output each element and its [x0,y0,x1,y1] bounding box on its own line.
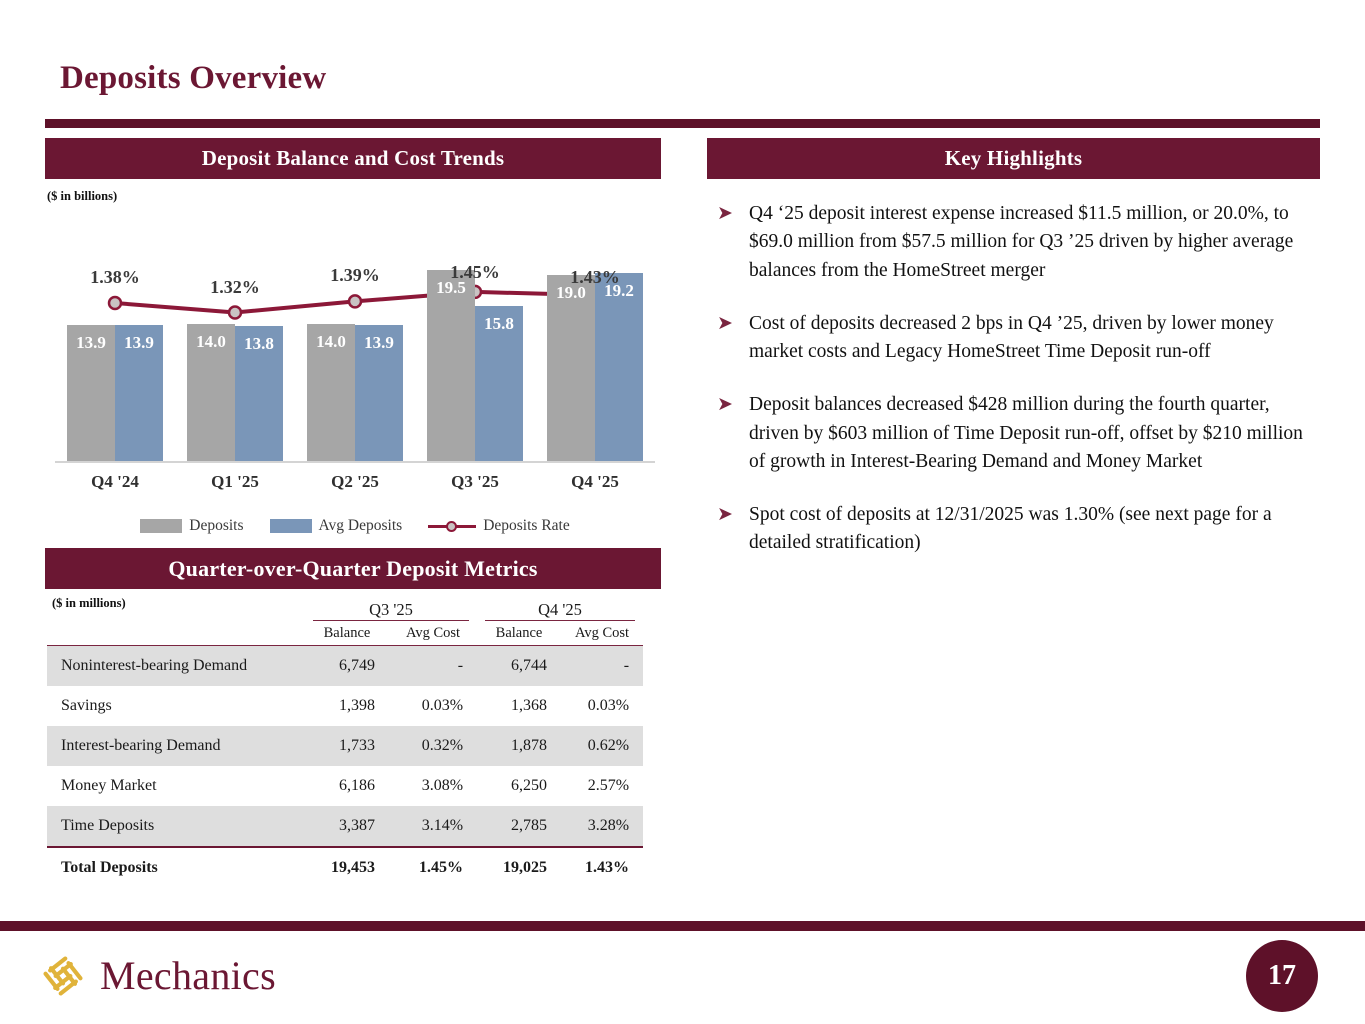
cell-q3-avg-cost: 3.14% [389,806,477,847]
bar-label-avg-deposits-1: 13.8 [235,334,283,354]
table-total-row: Total Deposits19,4531.45%19,0251.43% [47,847,643,888]
deposits-rate-label-0: 1.38% [65,267,165,288]
deposits-rate-label-4: 1.43% [545,267,645,288]
total-q3-avg-cost: 1.45% [389,847,477,888]
table-group-header-row: Q3 '25 Q4 '25 [47,600,643,620]
arrow-bullet-icon: ➤ [707,310,749,367]
deposit-metrics-table-wrap: Q3 '25 Q4 '25 Balance Avg Cost Balance A… [47,600,661,888]
bar-label-deposits-0: 13.9 [67,333,115,353]
col-header-q3-avg-cost: Avg Cost [389,625,477,642]
bar-avg-deposits-2: 13.9 [355,325,403,461]
cell-q4-avg-cost: - [561,646,643,687]
bar-label-avg-deposits-3: 15.8 [475,314,523,334]
cell-q3-avg-cost: 3.08% [389,766,477,806]
page-number-badge: 17 [1246,940,1318,1012]
bar-label-avg-deposits-0: 13.9 [115,333,163,353]
table-row: Time Deposits3,3873.14%2,7853.28% [47,806,643,847]
key-highlight-text: Deposit balances decreased $428 million … [749,391,1327,476]
bar-deposits-1: 14.0 [187,324,235,461]
x-axis-label-3: Q3 '25 [415,472,535,492]
cell-q4-avg-cost: 3.28% [561,806,643,847]
cell-q3-avg-cost: 0.03% [389,686,477,726]
total-q4-balance: 19,025 [477,847,561,888]
total-q3-balance: 19,453 [305,847,389,888]
deposits-rate-label-3: 1.45% [425,262,525,283]
key-highlights-header: Key Highlights [707,138,1320,179]
total-q4-avg-cost: 1.43% [561,847,643,888]
cell-q3-balance: 1,733 [305,726,389,766]
bar-deposits-2: 14.0 [307,324,355,461]
arrow-bullet-icon: ➤ [707,200,749,285]
slide-root: Deposits Overview Deposit Balance and Co… [0,0,1365,1024]
title-divider [45,119,1320,128]
table-corner-cell [47,600,305,620]
key-highlight-item: ➤Q4 ‘25 deposit interest expense increas… [707,200,1327,285]
bar-label-avg-deposits-2: 13.9 [355,333,403,353]
key-highlight-text: Q4 ‘25 deposit interest expense increase… [749,200,1327,285]
metrics-panel-header: Quarter-over-Quarter Deposit Metrics [45,548,661,589]
row-label: Interest-bearing Demand [47,726,305,766]
deposits-rate-label-2: 1.39% [305,265,405,286]
group-rule-q4 [485,620,635,621]
footer-divider [0,921,1365,931]
legend-label-avg-deposits: Avg Deposits [319,517,403,535]
legend-label-deposits-rate: Deposits Rate [483,517,570,535]
key-highlight-text: Cost of deposits decreased 2 bps in Q4 ’… [749,310,1327,367]
deposits-rate-marker-2 [349,295,361,307]
x-axis-label-1: Q1 '25 [175,472,295,492]
cell-q3-avg-cost: 0.32% [389,726,477,766]
bar-deposits-3: 19.5 [427,270,475,461]
legend-item-avg-deposits: Avg Deposits [270,517,403,535]
deposit-balance-cost-chart: 13.913.914.013.814.013.919.515.819.019.2… [45,200,665,500]
group-rule-q3 [313,620,469,621]
legend-swatch-deposits [140,519,182,533]
x-axis-label-0: Q4 '24 [55,472,175,492]
col-header-q3-balance: Balance [305,625,389,642]
row-label: Time Deposits [47,806,305,847]
cell-q3-balance: 1,398 [305,686,389,726]
bar-label-deposits-1: 14.0 [187,332,235,352]
cell-q4-balance: 1,368 [477,686,561,726]
key-highlight-item: ➤Spot cost of deposits at 12/31/2025 was… [707,501,1327,558]
arrow-bullet-icon: ➤ [707,391,749,476]
cell-q4-avg-cost: 2.57% [561,766,643,806]
col-header-q4-avg-cost: Avg Cost [561,625,643,642]
cell-q3-balance: 6,749 [305,646,389,687]
cell-q4-avg-cost: 0.62% [561,726,643,766]
table-body: Noninterest-bearing Demand6,749-6,744-Sa… [47,646,643,889]
cell-q3-balance: 3,387 [305,806,389,847]
cell-q4-balance: 1,878 [477,726,561,766]
legend-marker-deposits-rate [428,519,476,533]
x-axis-label-2: Q2 '25 [295,472,415,492]
deposits-rate-marker-0 [109,297,121,309]
brand-wordmark: Mechanics [100,952,276,999]
chart-legend: Deposits Avg Deposits Deposits Rate [45,513,665,539]
legend-swatch-avg-deposits [270,519,312,533]
brand-logo: Mechanics [40,952,276,999]
legend-item-deposits-rate: Deposits Rate [428,517,570,535]
table-sub-header-row: Balance Avg Cost Balance Avg Cost [47,625,643,642]
col-header-q4-balance: Balance [477,625,561,642]
bar-avg-deposits-0: 13.9 [115,325,163,461]
bar-deposits-4: 19.0 [547,275,595,461]
total-label: Total Deposits [47,847,305,888]
cell-q4-balance: 6,250 [477,766,561,806]
table-row: Money Market6,1863.08%6,2502.57% [47,766,643,806]
legend-item-deposits: Deposits [140,517,243,535]
group-header-q3: Q3 '25 [305,600,477,620]
key-highlight-item: ➤Deposit balances decreased $428 million… [707,391,1327,476]
legend-label-deposits: Deposits [189,517,243,535]
row-label: Money Market [47,766,305,806]
table-row: Interest-bearing Demand1,7330.32%1,8780.… [47,726,643,766]
chart-x-axis-labels: Q4 '24Q1 '25Q2 '25Q3 '25Q4 '25 [45,472,665,502]
table-row: Savings1,3980.03%1,3680.03% [47,686,643,726]
bar-avg-deposits-4: 19.2 [595,273,643,461]
table-row: Noninterest-bearing Demand6,749-6,744- [47,646,643,687]
key-highlights-list: ➤Q4 ‘25 deposit interest expense increas… [707,200,1327,583]
deposits-rate-marker-1 [229,307,241,319]
cell-q3-balance: 6,186 [305,766,389,806]
cell-q3-avg-cost: - [389,646,477,687]
x-axis-label-4: Q4 '25 [535,472,655,492]
arrow-bullet-icon: ➤ [707,501,749,558]
bar-avg-deposits-1: 13.8 [235,326,283,461]
page-title: Deposits Overview [60,60,326,97]
chart-plot-area: 13.913.914.013.814.013.919.515.819.019.2… [45,200,665,470]
deposits-rate-label-1: 1.32% [185,277,285,298]
cell-q4-balance: 6,744 [477,646,561,687]
key-highlight-text: Spot cost of deposits at 12/31/2025 was … [749,501,1327,558]
deposit-metrics-table: Q3 '25 Q4 '25 Balance Avg Cost Balance A… [47,600,643,888]
row-label: Savings [47,686,305,726]
bar-avg-deposits-3: 15.8 [475,306,523,461]
row-label: Noninterest-bearing Demand [47,646,305,687]
cell-q4-avg-cost: 0.03% [561,686,643,726]
group-header-q4: Q4 '25 [477,600,643,620]
bar-label-deposits-2: 14.0 [307,332,355,352]
key-highlight-item: ➤Cost of deposits decreased 2 bps in Q4 … [707,310,1327,367]
chart-axis-line [55,461,655,463]
bar-deposits-0: 13.9 [67,325,115,461]
mechanics-weave-icon [40,953,86,999]
cell-q4-balance: 2,785 [477,806,561,847]
chart-panel-header: Deposit Balance and Cost Trends [45,138,661,179]
